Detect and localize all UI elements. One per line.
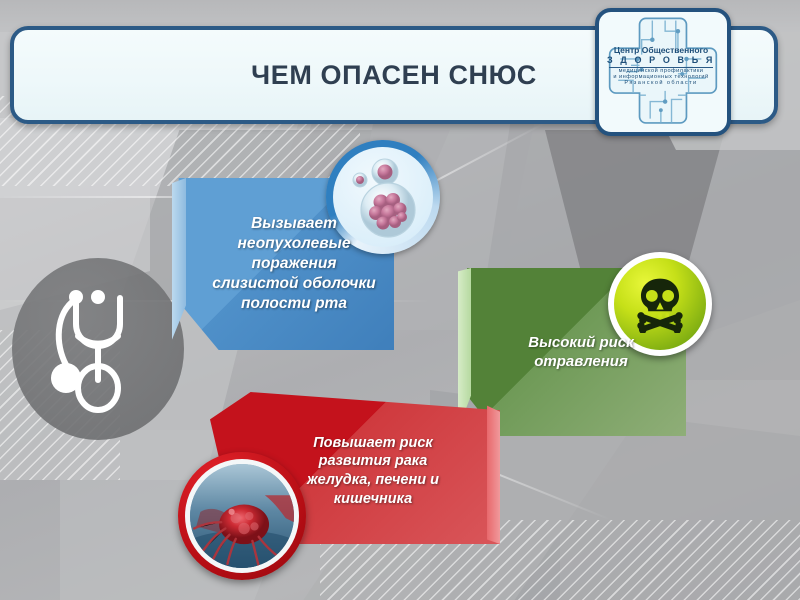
skull-crossbones-icon	[631, 275, 689, 333]
stethoscope-icon	[42, 284, 154, 414]
ribbon-bevel	[487, 392, 500, 544]
logo-line-5: Рязанской области	[606, 81, 716, 87]
ribbon-label: Высокий риск отравления	[486, 333, 676, 371]
page-title: ЧЕМ ОПАСЕН СНЮС	[251, 60, 537, 91]
ribbon-label: Вызывает неопухолевые поражения слизисто…	[199, 214, 389, 313]
logo-text-block: Центр Общественного З Д О Р О В Ь Я меди…	[606, 46, 716, 87]
logo-line-2: З Д О Р О В Ь Я	[606, 56, 716, 65]
stethoscope-badge	[12, 258, 184, 440]
ribbon-bevel	[172, 178, 186, 350]
logo-card: Центр Общественного З Д О Р О В Ь Я меди…	[595, 8, 731, 136]
slide-root: ЧЕМ ОПАСЕН СНЮС	[0, 0, 800, 600]
logo-line-1: Центр Общественного	[606, 46, 716, 55]
ribbon-label: Повышает риск развития рака желудка, печ…	[268, 434, 478, 508]
